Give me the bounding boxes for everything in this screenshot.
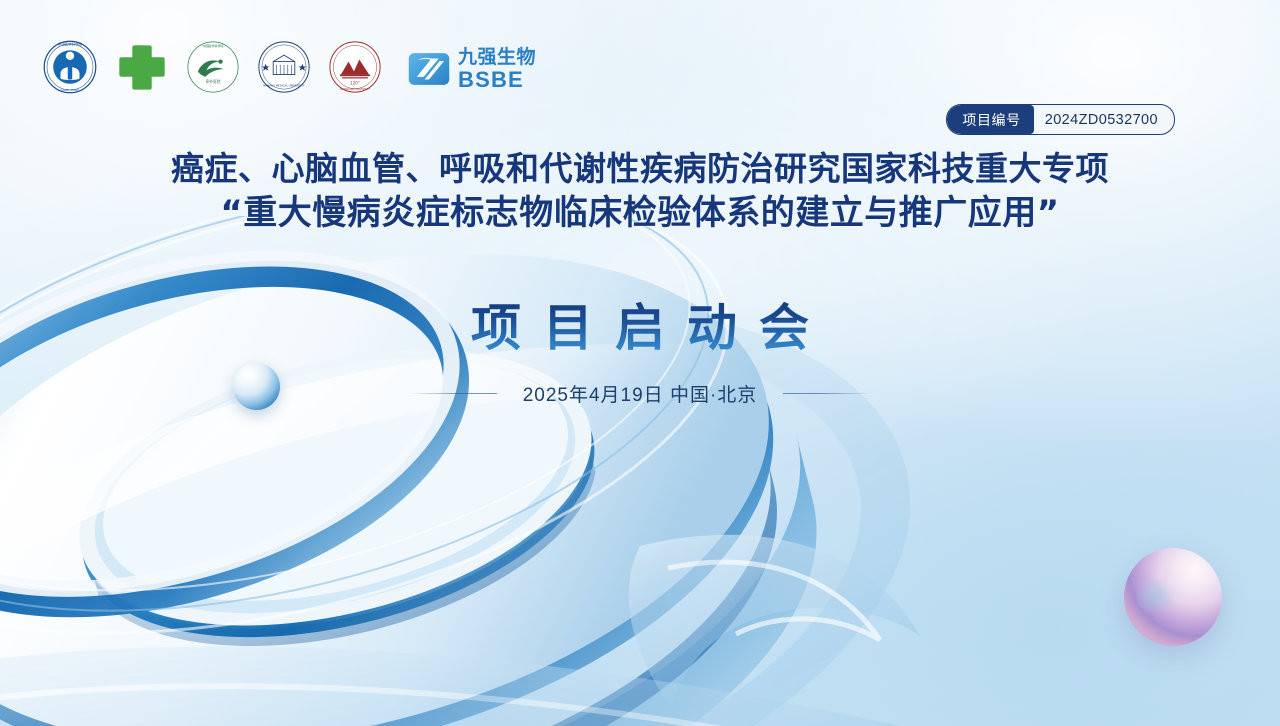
bsbe-name-cn: 九强生物 [458, 48, 536, 67]
bsbe-name-en: BSBE [458, 69, 536, 91]
bsbe-mark-icon [407, 47, 451, 91]
green-wave-seal-logo: 中国医学科学院 阜外医院 [186, 40, 240, 99]
project-title-line-1: 癌症、心脑血管、呼吸和代谢性疾病防治研究国家科技重大专项 [0, 150, 1280, 188]
shandong-university-seal-icon: 120° SHANDONG UNIVERSITY [328, 40, 382, 94]
shandong-university-seal-logo: 120° SHANDONG UNIVERSITY [328, 40, 382, 99]
project-number-value: 2024ZD0532700 [1034, 105, 1174, 134]
date-rule-left [409, 393, 497, 394]
background-wash-bottom-right [700, 366, 1280, 726]
partner-logo-strip: 中国医学科学院 CAMS · PUMC 中国医学科学院 阜外医院 [42, 38, 536, 100]
project-title-line-2: “重大慢病炎症标志物临床检验体系的建立与推广应用” [0, 194, 1280, 233]
date-location-text: 2025年4月19日 中国·北京 [523, 380, 758, 407]
svg-text:中国医学科学院: 中国医学科学院 [58, 41, 83, 46]
green-cross-icon [115, 40, 169, 94]
university-seal-blue-icon: NANJING MEDICAL UNIVERSITY [257, 40, 311, 94]
cams-pumc-seal-logo: 中国医学科学院 CAMS · PUMC [42, 39, 98, 100]
svg-text:阜外医院: 阜外医院 [205, 79, 220, 84]
bsbe-logo: 九强生物 BSBE [407, 47, 536, 91]
cams-pumc-seal-icon: 中国医学科学院 CAMS · PUMC [42, 39, 98, 95]
poster-canvas: 中国医学科学院 CAMS · PUMC 中国医学科学院 阜外医院 [0, 0, 1280, 726]
project-number-badge: 项目编号 2024ZD0532700 [946, 104, 1175, 135]
svg-text:中国医学科学院: 中国医学科学院 [202, 43, 223, 48]
event-subtitle: 项目启动会 [0, 288, 1280, 360]
heading-block: 癌症、心脑血管、呼吸和代谢性疾病防治研究国家科技重大专项 “重大慢病炎症标志物临… [0, 150, 1280, 234]
svg-text:120°: 120° [350, 80, 360, 85]
green-cross-logo [115, 40, 169, 99]
background-wash-bottom-left [0, 406, 660, 726]
date-location-row: 2025年4月19日 中国·北京 [0, 380, 1280, 407]
svg-text:NANJING MEDICAL UNIVERSITY: NANJING MEDICAL UNIVERSITY [263, 83, 305, 87]
svg-text:SHANDONG UNIVERSITY: SHANDONG UNIVERSITY [340, 87, 370, 91]
green-wave-seal-icon: 中国医学科学院 阜外医院 [186, 40, 240, 94]
university-seal-blue-logo: NANJING MEDICAL UNIVERSITY [257, 40, 311, 99]
svg-text:CAMS · PUMC: CAMS · PUMC [61, 88, 80, 92]
project-number-label: 项目编号 [947, 105, 1033, 134]
iridescent-pastel-sphere [1124, 548, 1222, 646]
date-rule-right [783, 393, 871, 394]
